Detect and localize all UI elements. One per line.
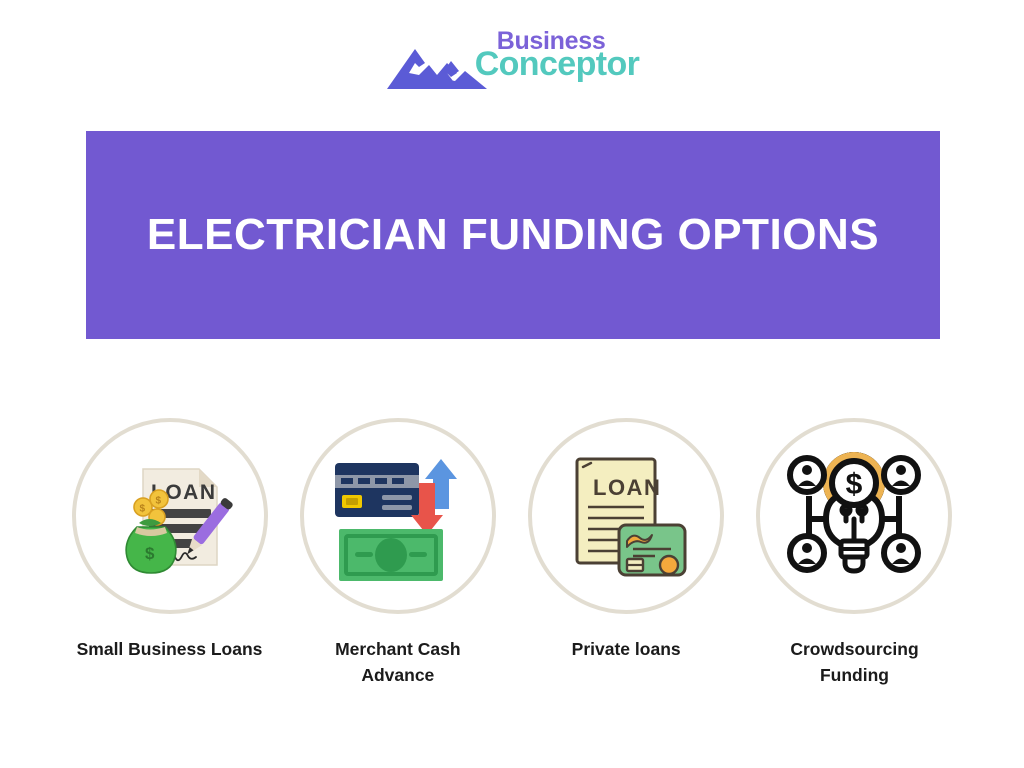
svg-text:$: $: [145, 544, 155, 563]
brand-word-conceptor: Conceptor: [475, 51, 640, 79]
option-item-crowdsourcing-funding: $ Crowdsourcing Funding: [747, 418, 962, 689]
svg-text:LOAN: LOAN: [593, 475, 661, 500]
loan-document-money-bag-icon: LOAN $ $ $: [95, 441, 245, 591]
option-label: Private loans: [572, 636, 681, 662]
option-label: Crowdsourcing Funding: [759, 636, 949, 689]
option-item-small-business-loans: LOAN $ $ $: [62, 418, 277, 662]
option-icon-circle: LOAN $ $ $: [72, 418, 268, 614]
credit-card-cash-exchange-icon: [323, 441, 473, 591]
svg-text:$: $: [139, 504, 145, 515]
option-icon-circle: $: [756, 418, 952, 614]
option-item-private-loans: LOAN Private loans: [519, 418, 734, 662]
option-label: Small Business Loans: [77, 636, 263, 662]
title-banner: ELECTRICIAN FUNDING OPTIONS: [86, 131, 940, 339]
page-title: ELECTRICIAN FUNDING OPTIONS: [147, 210, 879, 260]
brand-logo: Business Conceptor: [0, 28, 1024, 98]
option-icon-circle: LOAN: [528, 418, 724, 614]
option-icon-circle: [300, 418, 496, 614]
lightbulb-dollar-people-network-icon: $: [779, 441, 929, 591]
mountain-peaks-icon: [385, 43, 489, 96]
option-item-merchant-cash-advance: Merchant Cash Advance: [290, 418, 505, 689]
svg-text:$: $: [155, 496, 161, 507]
funding-options-row: LOAN $ $ $: [62, 418, 962, 689]
option-label: Merchant Cash Advance: [303, 636, 493, 689]
svg-text:$: $: [846, 468, 863, 501]
loan-document-credit-card-icon: LOAN: [551, 441, 701, 591]
